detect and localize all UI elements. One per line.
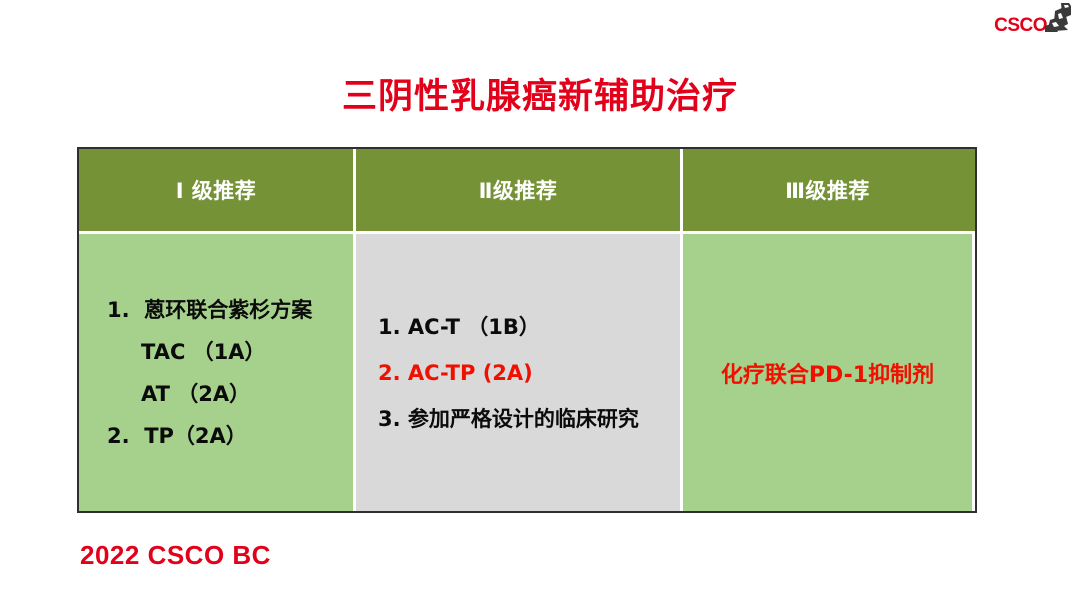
page-title: 三阴性乳腺癌新辅助治疗 [0,68,1080,119]
level-1-regimen-list: 1. 蒽环联合紫杉方案 TAC （1A） AT （2A） 2. TP（2A） [79,289,353,457]
list-item: 1. AC-T （1B） [378,304,672,350]
table-header-row: Ⅰ 级推荐 Ⅱ级推荐 Ⅲ级推荐 [79,149,975,231]
table-header-level-1: Ⅰ 级推荐 [79,149,356,231]
source-footer: 2022 CSCO BC [80,540,271,571]
csco-wordmark: CSCO [994,16,1047,35]
list-item: TAC （1A） [107,331,343,373]
list-item: 2. TP（2A） [107,415,343,457]
table-header-level-3: Ⅲ级推荐 [683,149,972,231]
level-3-regimen-text: 化疗联合PD-1抑制剂 [683,357,972,389]
table-cell-level-3: 化疗联合PD-1抑制剂 [683,234,972,511]
level-2-regimen-list: 1. AC-T （1B） 2. AC-TP (2A) 3. 参加严格设计的临床研… [356,304,680,442]
recommendation-table: Ⅰ 级推荐 Ⅱ级推荐 Ⅲ级推荐 1. 蒽环联合紫杉方案 TAC （1A） AT … [77,147,977,513]
table-cell-level-2: 1. AC-T （1B） 2. AC-TP (2A) 3. 参加严格设计的临床研… [356,234,683,511]
csco-logo: CSCO [994,2,1072,38]
table-header-level-2: Ⅱ级推荐 [356,149,683,231]
table-body-row: 1. 蒽环联合紫杉方案 TAC （1A） AT （2A） 2. TP（2A） 1… [79,231,975,511]
list-item: 3. 参加严格设计的临床研究 [378,396,672,442]
list-item: 1. 蒽环联合紫杉方案 [107,289,343,331]
csco-emblem-icon [1042,2,1072,34]
list-item: AT （2A） [107,373,343,415]
table-cell-level-1: 1. 蒽环联合紫杉方案 TAC （1A） AT （2A） 2. TP（2A） [79,234,356,511]
list-item-highlighted: 2. AC-TP (2A) [378,350,672,396]
